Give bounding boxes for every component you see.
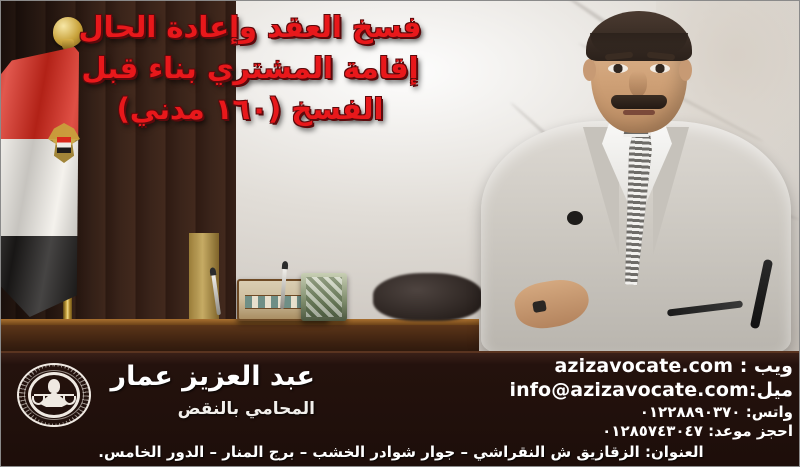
title-line-2: إقامة المشتري بناء قبل <box>35 48 465 89</box>
lawyer-portrait <box>471 9 800 353</box>
ear-left <box>583 59 596 81</box>
lapel-microphone <box>567 211 583 225</box>
desk-object-dark <box>373 273 483 321</box>
mouth <box>623 110 655 115</box>
lawyer-name: عبد العزيز عمار <box>111 361 315 392</box>
title-line-1: فسخ العقد وإعادة الحال <box>35 7 465 48</box>
hair <box>586 11 692 61</box>
moustache <box>611 95 667 109</box>
ring <box>532 300 547 313</box>
eye-left <box>608 64 628 73</box>
pen-holder <box>301 273 347 321</box>
ear-right <box>679 59 692 81</box>
address-row: العنوان: الزقازيق ش النقراشي – جوار شواد… <box>1 443 800 461</box>
whatsapp-row[interactable]: واتس: ٠١٢٢٨٨٩٠٣٧٠ <box>373 403 793 423</box>
brand-block: عبد العزيز عمار المحامي بالنقض <box>11 357 411 435</box>
page-title: فسخ العقد وإعادة الحال إقامة المشتري بنا… <box>35 7 465 131</box>
website-row[interactable]: ويب : azizavocate.com <box>373 355 793 379</box>
eye-right <box>650 64 670 73</box>
pen-nib <box>209 267 216 276</box>
nose <box>629 71 647 97</box>
contact-details: ويب : azizavocate.com ميل:info@azizavoca… <box>373 355 793 442</box>
lawyer-title: المحامي بالنقض <box>178 399 315 419</box>
title-line-3: الفسخ (١٦٠ مدني) <box>35 89 465 130</box>
booking-phone-row[interactable]: احجز موعد: ٠١٢٨٥٧٤٣٠٤٧ <box>373 422 793 442</box>
pen-nib <box>282 261 289 269</box>
contact-bar: عبد العزيز عمار المحامي بالنقض ويب : azi… <box>1 351 800 467</box>
email-row[interactable]: ميل:info@azizavocate.com <box>373 379 793 403</box>
emblem-figure-icon <box>48 379 60 393</box>
lawyer-promo-poster: فسخ العقد وإعادة الحال إقامة المشتري بنا… <box>0 0 800 467</box>
office-photo-scene: فسخ العقد وإعادة الحال إقامة المشتري بنا… <box>1 1 800 353</box>
eagle-shield-icon <box>57 137 71 153</box>
scales-of-justice-emblem-icon <box>17 363 91 427</box>
